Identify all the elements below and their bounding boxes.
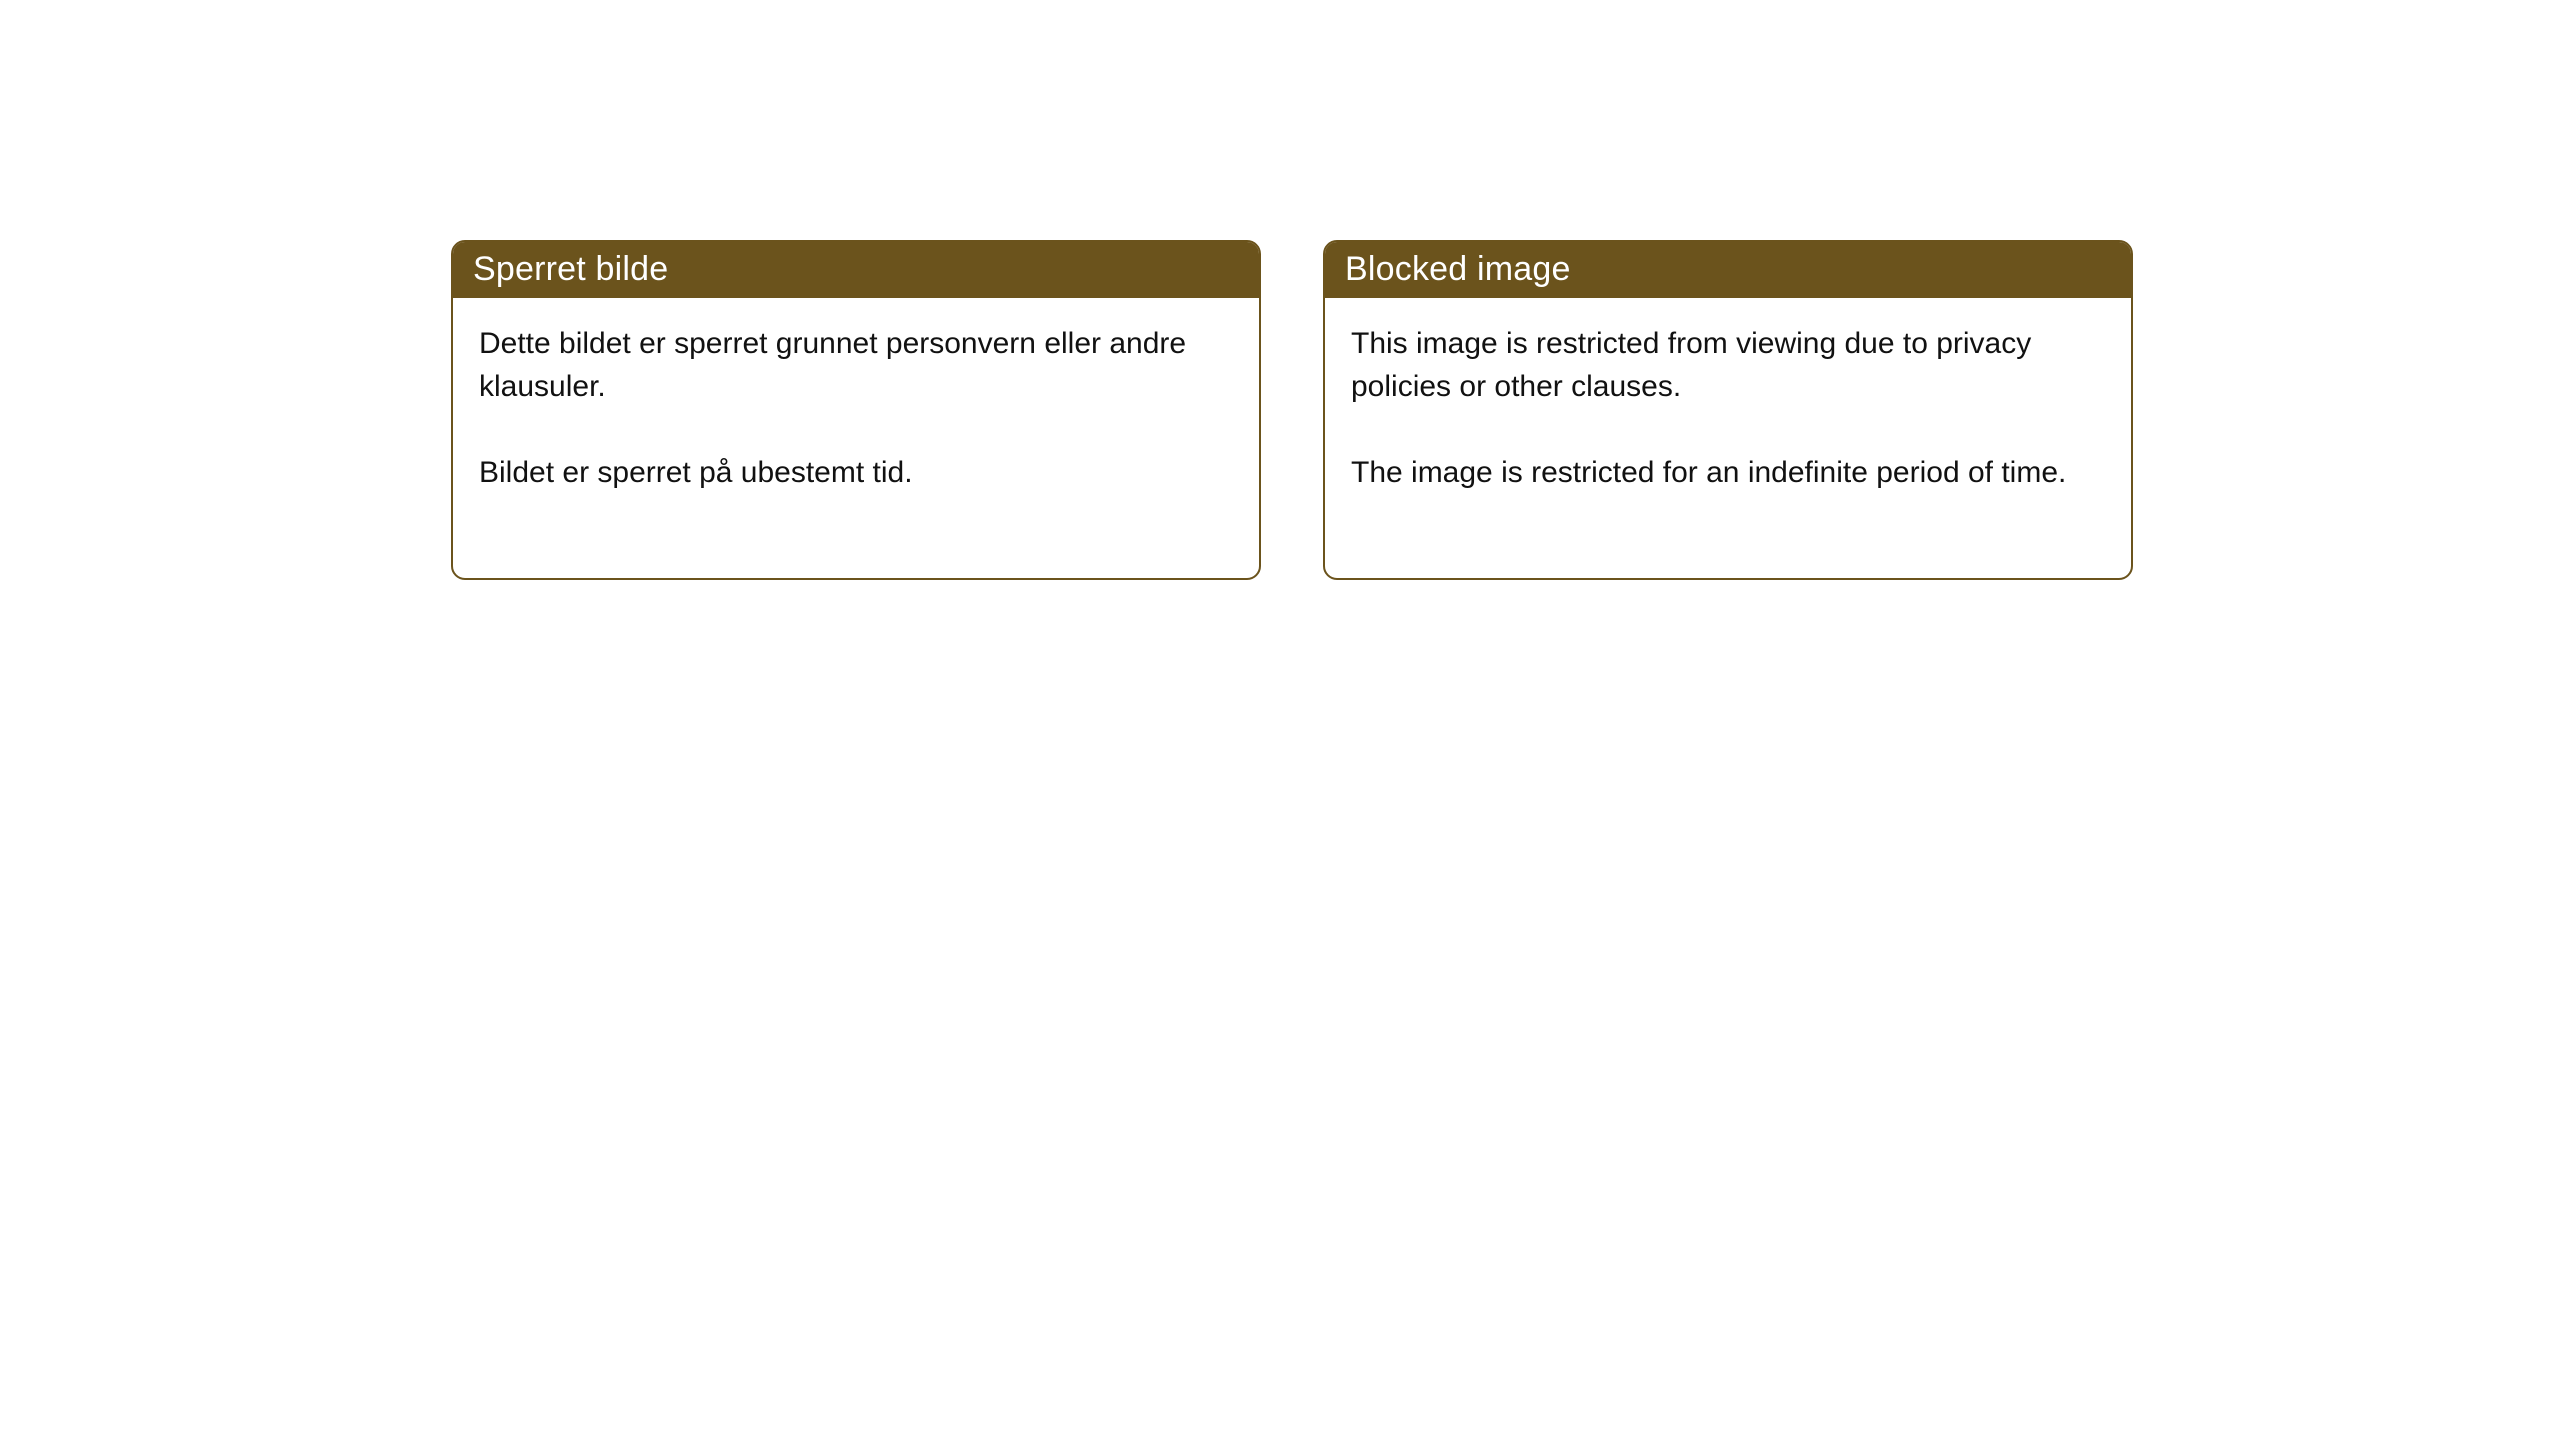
- blocked-image-notice-no: Sperret bilde Dette bildet er sperret gr…: [451, 240, 1261, 580]
- card-paragraph-no-1: Dette bildet er sperret grunnet personve…: [479, 322, 1219, 408]
- card-title-en: Blocked image: [1345, 250, 1571, 288]
- card-paragraph-no-2: Bildet er sperret på ubestemt tid.: [479, 451, 1219, 494]
- card-paragraph-en-2: The image is restricted for an indefinit…: [1351, 451, 2091, 494]
- card-title-no: Sperret bilde: [473, 250, 668, 288]
- blocked-image-notice-en: Blocked image This image is restricted f…: [1323, 240, 2133, 580]
- card-body-no: Dette bildet er sperret grunnet personve…: [453, 298, 1259, 494]
- card-header-en: Blocked image: [1323, 240, 2133, 298]
- card-body-en: This image is restricted from viewing du…: [1325, 298, 2131, 494]
- paragraph-spacer-en: [1351, 408, 2105, 451]
- page-root: Sperret bilde Dette bildet er sperret gr…: [0, 0, 2560, 1440]
- card-paragraph-en-1: This image is restricted from viewing du…: [1351, 322, 2091, 408]
- card-header-no: Sperret bilde: [451, 240, 1261, 298]
- notice-cards-row: Sperret bilde Dette bildet er sperret gr…: [451, 240, 2133, 580]
- paragraph-spacer-no: [479, 408, 1233, 451]
